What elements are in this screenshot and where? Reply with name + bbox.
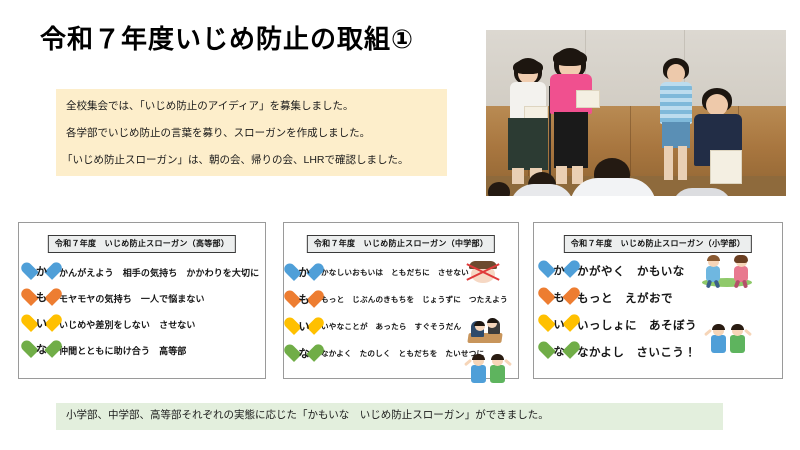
- summary-text: 小学部、中学部、高等部それぞれの実態に応じた「かもいな いじめ防止スローガン」が…: [66, 410, 549, 421]
- intro-description-box: 全校集会では、「いじめ防止のアイディア」を募集しました。 各学部でいじめ防止の言…: [56, 89, 447, 176]
- crossed-out-sad-face-icon: [466, 259, 500, 285]
- panel-header-elementary: 令和７年度 いじめ防止スローガン（小学部）: [564, 235, 752, 253]
- heart-kana: も: [294, 290, 314, 310]
- heart-icon-na: な: [548, 341, 570, 363]
- assembly-photo: [486, 30, 786, 196]
- intro-line-1: 全校集会では、「いじめ防止のアイディア」を募集しました。: [66, 101, 354, 112]
- students-talking-icon: [468, 315, 502, 343]
- slogan-panel-high-school: 令和７年度 いじめ防止スローガン（高等部） か かんがえよう 相手の気持ち かか…: [18, 222, 266, 379]
- heart-kana: か: [294, 263, 314, 283]
- slogan-text: いじめや差別をしない させない: [59, 318, 196, 331]
- slogan-text: もっと じぶんのきもちを じょうずに つたえよう: [321, 294, 508, 305]
- panel-header-junior-high: 令和７年度 いじめ防止スローガン（中学部）: [307, 235, 495, 253]
- slogan-row: も もっと じぶんのきもちを じょうずに つたえよう: [284, 286, 518, 313]
- heart-icon-mo: も: [548, 287, 570, 309]
- photo-audience: [486, 150, 786, 196]
- slogan-rows-high-school: か かんがえよう 相手の気持ち かかわりを大切に も モヤモヤの気持ち 一人で悩…: [19, 259, 265, 363]
- heart-icon-ka: か: [31, 262, 52, 283]
- heart-kana: か: [548, 260, 570, 282]
- heart-icon-i: い: [548, 314, 570, 336]
- heart-icon-na: な: [31, 340, 52, 361]
- slogan-text: なかよし さいこう！: [577, 344, 696, 360]
- heart-icon-i: い: [294, 317, 314, 337]
- slogan-row: か かんがえよう 相手の気持ち かかわりを大切に: [19, 259, 265, 285]
- slogan-panel-junior-high: 令和７年度 いじめ防止スローガン（中学部） か かなしいおもいは ともだちに さ…: [283, 222, 519, 379]
- slogan-text: いっしょに あそぼう: [577, 317, 697, 333]
- slogan-text: いやなことが あったら すぐそうだん: [321, 321, 461, 332]
- slogan-panel-elementary: 令和７年度 いじめ防止スローガン（小学部） か かがやく かもいな も もっと …: [533, 222, 783, 379]
- happy-children-icon: [470, 357, 506, 383]
- slogan-text: なかよく たのしく ともだちを たいせつに: [321, 348, 484, 359]
- heart-kana: い: [31, 314, 52, 335]
- running-children-icon: [702, 255, 752, 287]
- heart-icon-mo: も: [294, 290, 314, 310]
- happy-children-icon: [710, 327, 746, 353]
- heart-icon-i: い: [31, 314, 52, 335]
- heart-icon-na: な: [294, 344, 314, 364]
- heart-kana: な: [548, 341, 570, 363]
- slogan-text: かがやく かもいな: [577, 263, 685, 279]
- heart-icon-mo: も: [31, 288, 52, 309]
- slogan-text: モヤモヤの気持ち 一人で悩まない: [59, 292, 205, 305]
- slogan-text: もっと えがおで: [577, 290, 673, 306]
- photo-scene: [486, 30, 786, 196]
- panel-header-high-school: 令和７年度 いじめ防止スローガン（高等部）: [48, 235, 236, 253]
- heart-kana: も: [31, 288, 52, 309]
- heart-icon-ka: か: [294, 263, 314, 283]
- heart-kana: な: [31, 340, 52, 361]
- slogan-row: も モヤモヤの気持ち 一人で悩まない: [19, 285, 265, 311]
- heart-icon-ka: か: [548, 260, 570, 282]
- page-title: 令和７年度いじめ防止の取組①: [40, 19, 414, 56]
- intro-line-2: 各学部でいじめ防止の言葉を募り、スローガンを作成しました。: [66, 128, 370, 139]
- heart-kana: な: [294, 344, 314, 364]
- summary-bar: 小学部、中学部、高等部それぞれの実態に応じた「かもいな いじめ防止スローガン」が…: [56, 403, 723, 430]
- heart-kana: い: [294, 317, 314, 337]
- slogan-text: かなしいおもいは ともだちに させない: [321, 267, 469, 278]
- heart-kana: も: [548, 287, 570, 309]
- heart-kana: い: [548, 314, 570, 336]
- slogan-row: な 仲間とともに助け合う 高等部: [19, 337, 265, 363]
- slogan-text: かんがえよう 相手の気持ち かかわりを大切に: [59, 266, 259, 279]
- intro-line-3: 「いじめ防止スローガン」は、朝の会、帰りの会、LHRで確認しました。: [62, 155, 409, 166]
- slogan-text: 仲間とともに助け合う 高等部: [59, 344, 186, 357]
- slogan-row: い いじめや差別をしない させない: [19, 311, 265, 337]
- heart-kana: か: [31, 262, 52, 283]
